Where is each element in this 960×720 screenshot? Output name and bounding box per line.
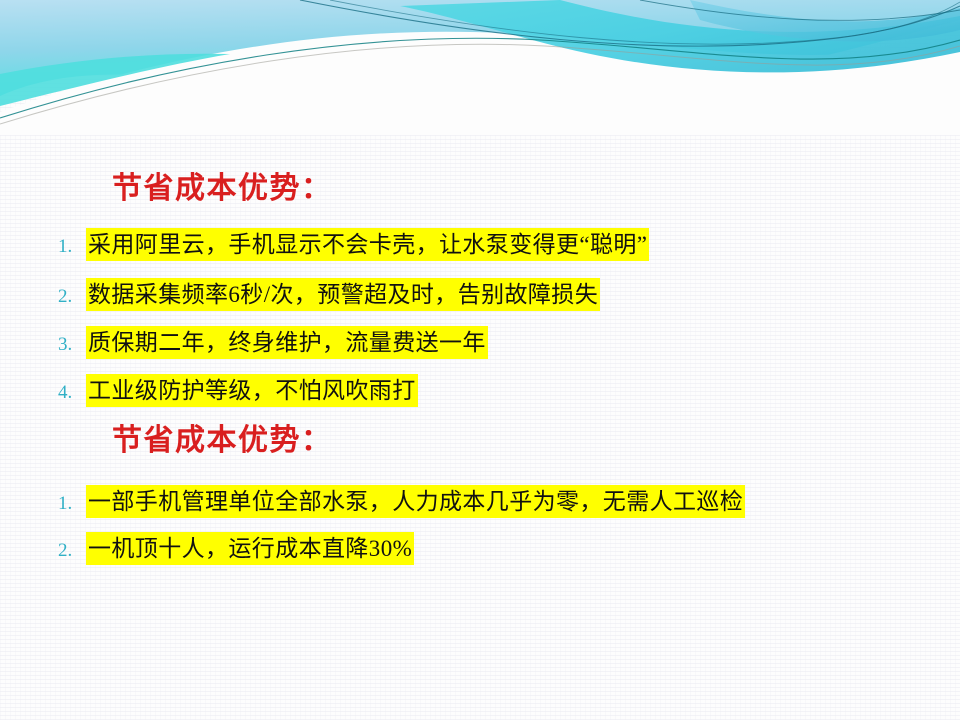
list-item: 1. 采用阿里云，手机显示不会卡壳，让水泵变得更“聪明” xyxy=(48,228,649,262)
section-heading-2: 节省成本优势： xyxy=(112,424,333,458)
list-item-number: 2. xyxy=(48,536,86,566)
list-item-text: 一机顶十人，运行成本直降30% xyxy=(86,532,414,565)
slide-content: 节省成本优势： 1. 采用阿里云，手机显示不会卡壳，让水泵变得更“聪明” 2. … xyxy=(0,0,960,720)
list-item-text: 工业级防护等级，不怕风吹雨打 xyxy=(86,374,418,407)
list-item-number: 3. xyxy=(48,330,86,360)
list-item-text: 数据采集频率6秒/次，预警超及时，告别故障损失 xyxy=(86,278,600,311)
list-item-text: 质保期二年，终身维护，流量费送一年 xyxy=(86,326,488,359)
list-item-number: 4. xyxy=(48,378,86,408)
list-item: 2. 一机顶十人，运行成本直降30% xyxy=(48,532,414,566)
list-item-text: 采用阿里云，手机显示不会卡壳，让水泵变得更“聪明” xyxy=(86,228,649,261)
section-heading-1: 节省成本优势： xyxy=(112,172,333,206)
list-item: 2. 数据采集频率6秒/次，预警超及时，告别故障损失 xyxy=(48,278,600,312)
list-item-number: 1. xyxy=(48,232,86,262)
list-item: 4. 工业级防护等级，不怕风吹雨打 xyxy=(48,374,418,408)
list-item: 1. 一部手机管理单位全部水泵，人力成本几乎为零，无需人工巡检 xyxy=(48,485,745,519)
slide-canvas: 节省成本优势： 1. 采用阿里云，手机显示不会卡壳，让水泵变得更“聪明” 2. … xyxy=(0,0,960,720)
list-item-text: 一部手机管理单位全部水泵，人力成本几乎为零，无需人工巡检 xyxy=(86,485,745,518)
list-item-number: 2. xyxy=(48,282,86,312)
list-item-number: 1. xyxy=(48,489,86,519)
list-item: 3. 质保期二年，终身维护，流量费送一年 xyxy=(48,326,488,360)
